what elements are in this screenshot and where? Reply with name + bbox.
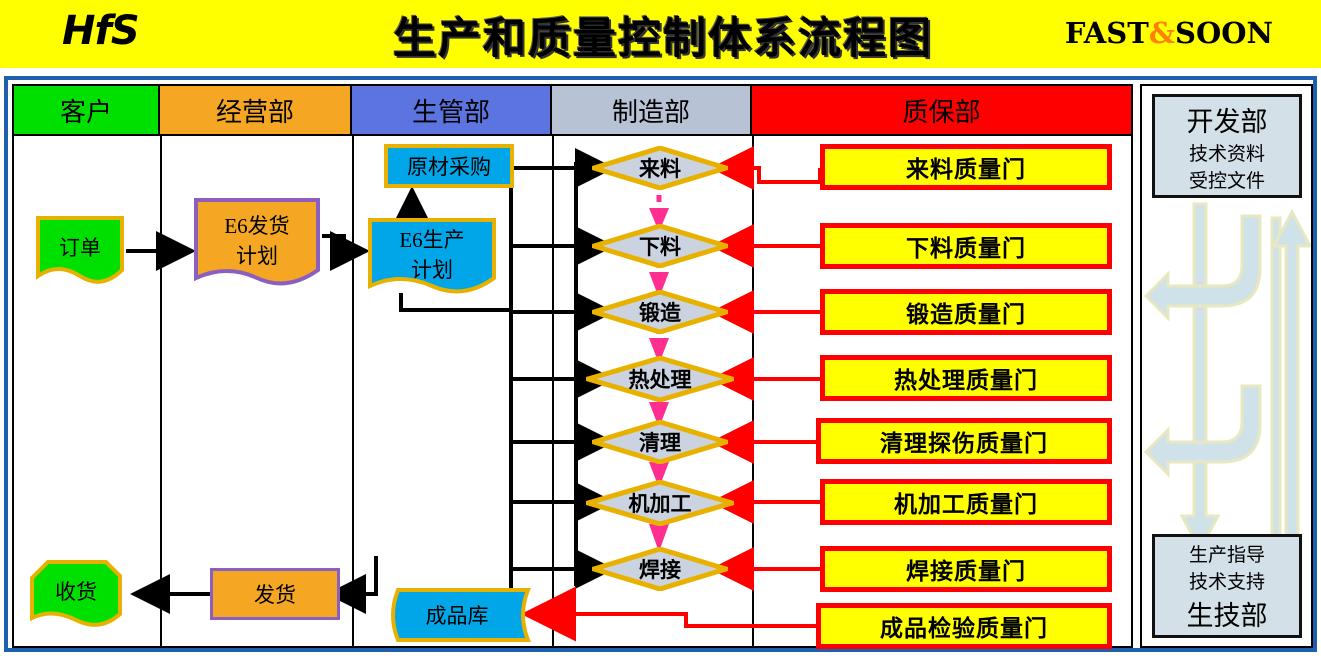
process-step-label: 焊接 [639, 554, 681, 584]
quality-gate-label: 锻造质量门 [906, 295, 1026, 329]
quality-gate-label: 机加工质量门 [894, 485, 1038, 519]
node-e6-shipping-plan-line2: 计划 [236, 240, 278, 270]
company-logo-left: HfS [62, 8, 139, 54]
process-step-forging[interactable]: 锻造 [592, 290, 728, 334]
node-order[interactable]: 订单 [34, 214, 126, 288]
node-order-label: 订单 [59, 232, 101, 262]
sidebar-box-production-tech[interactable]: 生产指导 技术支持 生技部 [1152, 534, 1302, 638]
node-ship-goods-label: 发货 [254, 579, 296, 609]
process-step-label: 机加工 [629, 488, 692, 518]
process-step-machining[interactable]: 机加工 [586, 480, 734, 526]
quality-gate-label: 成品检验质量门 [880, 609, 1048, 643]
node-receive-goods[interactable]: 收货 [28, 558, 124, 632]
node-finished-warehouse-label: 成品库 [426, 600, 489, 630]
swimlane-board: 客户 经营部 生管部 制造部 质保部 [12, 84, 1133, 648]
quality-gate-label: 来料质量门 [906, 150, 1026, 184]
connector-warehouse-to-shipping-elbow [354, 556, 376, 594]
node-e6-production-plan-line2: 计划 [411, 254, 453, 284]
sidebar-dev-line3: 受控文件 [1189, 166, 1265, 193]
process-step-welding[interactable]: 焊接 [592, 547, 728, 591]
sidebar-tech-line2: 技术支持 [1189, 567, 1265, 594]
logo-right-ampersand: & [1149, 16, 1175, 50]
process-step-label: 来料 [639, 153, 681, 183]
sidebar-dev-line2: 技术资料 [1189, 139, 1265, 166]
process-step-label: 热处理 [629, 364, 692, 394]
process-step-label: 锻造 [639, 297, 681, 327]
node-e6-production-plan[interactable]: E6生产 计划 [366, 216, 498, 300]
quality-gate-final-inspection[interactable]: 成品检验质量门 [816, 603, 1112, 649]
node-receive-goods-label: 收货 [55, 576, 97, 606]
quality-gate-label: 焊接质量门 [906, 552, 1026, 586]
connector-shipplan-to-prodplan [322, 236, 366, 251]
quality-gate-cleaning-ndt[interactable]: 清理探伤质量门 [816, 418, 1112, 464]
logo-right-part2: SOON [1175, 16, 1273, 50]
quality-gate-incoming[interactable]: 来料质量门 [820, 144, 1112, 190]
sidebar-dev-title: 开发部 [1187, 100, 1268, 139]
process-step-cutting[interactable]: 下料 [592, 224, 728, 268]
node-finished-warehouse[interactable]: 成品库 [382, 586, 532, 644]
process-step-label: 下料 [639, 231, 681, 261]
process-step-label: 清理 [639, 427, 681, 457]
quality-gate-welding[interactable]: 焊接质量门 [820, 546, 1112, 592]
quality-gate-label: 清理探伤质量门 [880, 424, 1048, 458]
node-e6-production-plan-line1: E6生产 [399, 224, 464, 254]
quality-gate-cutting[interactable]: 下料质量门 [820, 223, 1112, 269]
support-departments-panel: 开发部 技术资料 受控文件 生产指导 技术支持 生技部 [1140, 84, 1313, 648]
quality-gate-label: 下料质量门 [906, 229, 1026, 263]
page-title: 生产和质量控制体系流程图 [318, 4, 1008, 66]
diagram-frame: 客户 经营部 生管部 制造部 质保部 [4, 76, 1317, 652]
flowchart-page: HfS 生产和质量控制体系流程图 FAST&SOON 客户 经营部 生管部 制造… [0, 0, 1321, 656]
node-material-purchase[interactable]: 原材采购 [384, 144, 514, 188]
process-step-heat-treatment[interactable]: 热处理 [586, 356, 734, 402]
node-e6-shipping-plan[interactable]: E6发货 计划 [192, 196, 322, 292]
quality-gate-label: 热处理质量门 [894, 361, 1038, 395]
quality-gate-heat-treatment[interactable]: 热处理质量门 [820, 355, 1112, 401]
title-bar: HfS 生产和质量控制体系流程图 FAST&SOON [0, 0, 1321, 68]
node-e6-shipping-plan-line1: E6发货 [224, 210, 289, 240]
quality-gate-machining[interactable]: 机加工质量门 [820, 479, 1112, 525]
process-step-cleaning[interactable]: 清理 [592, 420, 728, 464]
process-step-incoming[interactable]: 来料 [592, 146, 728, 190]
company-logo-right: FAST&SOON [1065, 16, 1273, 50]
node-material-purchase-label: 原材采购 [407, 151, 491, 181]
sidebar-tech-title: 生技部 [1187, 594, 1268, 633]
node-ship-goods[interactable]: 发货 [210, 568, 340, 620]
sidebar-box-development[interactable]: 开发部 技术资料 受控文件 [1152, 94, 1302, 198]
quality-gate-forging[interactable]: 锻造质量门 [820, 289, 1112, 335]
logo-right-part1: FAST [1065, 16, 1149, 50]
sidebar-tech-line1: 生产指导 [1189, 540, 1265, 567]
